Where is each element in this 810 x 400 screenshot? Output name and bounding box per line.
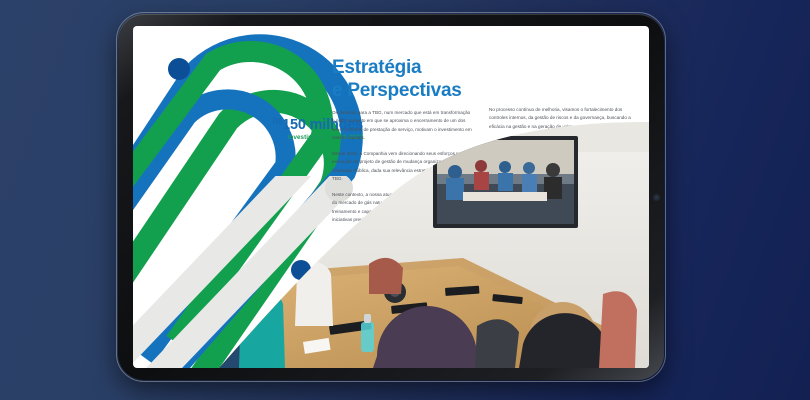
screenshot-stage: R$150 milhões Investimentos 2018-2022 Es… [0,0,810,400]
tablet-device: R$150 milhões Investimentos 2018-2022 Es… [118,14,664,380]
front-camera-icon [654,195,659,200]
tablet-screen: R$150 milhões Investimentos 2018-2022 Es… [133,26,649,368]
conference-room-photo [133,26,649,368]
